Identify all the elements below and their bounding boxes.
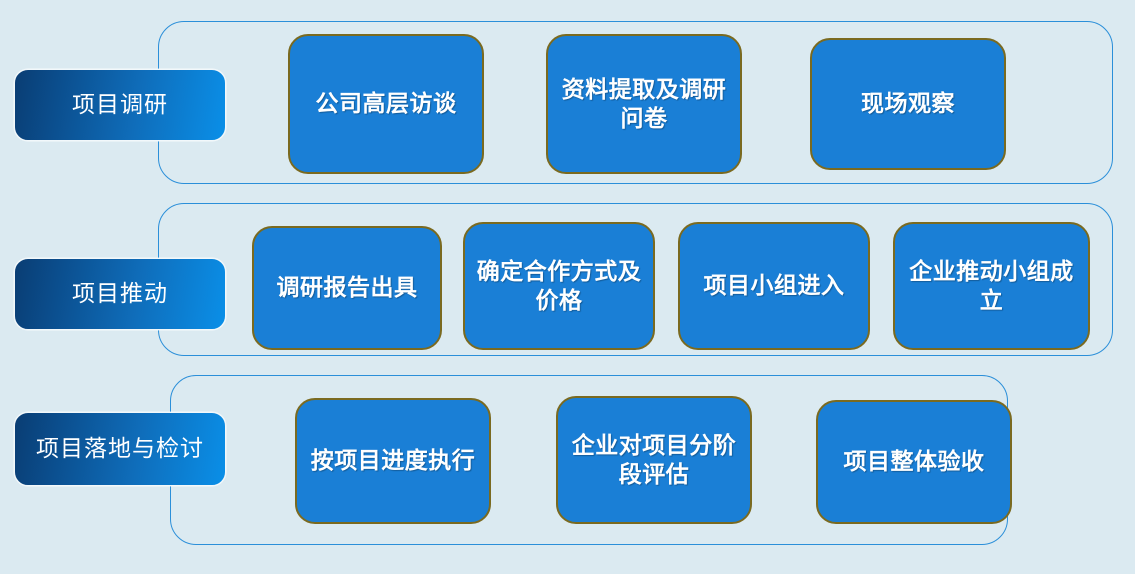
step-box-3-2[interactable]: 企业对项目分阶段评估 <box>556 396 752 524</box>
step-box-2-1[interactable]: 调研报告出具 <box>252 226 442 350</box>
step-box-1-3[interactable]: 现场观察 <box>810 38 1006 170</box>
step-box-label: 调研报告出具 <box>262 273 432 302</box>
step-box-label: 资料提取及调研问卷 <box>556 75 732 134</box>
step-box-label: 项目整体验收 <box>826 447 1002 476</box>
step-box-label: 按项目进度执行 <box>305 446 481 475</box>
step-box-2-2[interactable]: 确定合作方式及价格 <box>463 222 655 350</box>
phase-label-text-3: 项目落地与检讨 <box>36 435 204 464</box>
step-box-label: 企业推动小组成立 <box>903 257 1080 316</box>
step-box-3-3[interactable]: 项目整体验收 <box>816 400 1012 524</box>
process-diagram: 项目调研 公司高层访谈 资料提取及调研问卷 现场观察 项目推动 调研报告出具 确… <box>0 0 1135 574</box>
phase-label-text-2: 项目推动 <box>72 280 168 309</box>
step-box-1-2[interactable]: 资料提取及调研问卷 <box>546 34 742 174</box>
step-box-3-1[interactable]: 按项目进度执行 <box>295 398 491 524</box>
step-box-label: 确定合作方式及价格 <box>473 257 645 316</box>
phase-label-text-1: 项目调研 <box>72 91 168 120</box>
phase-label-3[interactable]: 项目落地与检讨 <box>14 412 226 486</box>
step-box-label: 项目小组进入 <box>688 271 860 300</box>
step-box-label: 公司高层访谈 <box>298 89 474 118</box>
step-box-2-3[interactable]: 项目小组进入 <box>678 222 870 350</box>
phase-label-1[interactable]: 项目调研 <box>14 69 226 141</box>
phase-label-2[interactable]: 项目推动 <box>14 258 226 330</box>
step-box-1-1[interactable]: 公司高层访谈 <box>288 34 484 174</box>
step-box-label: 企业对项目分阶段评估 <box>566 431 742 490</box>
step-box-label: 现场观察 <box>820 89 996 118</box>
step-box-2-4[interactable]: 企业推动小组成立 <box>893 222 1090 350</box>
